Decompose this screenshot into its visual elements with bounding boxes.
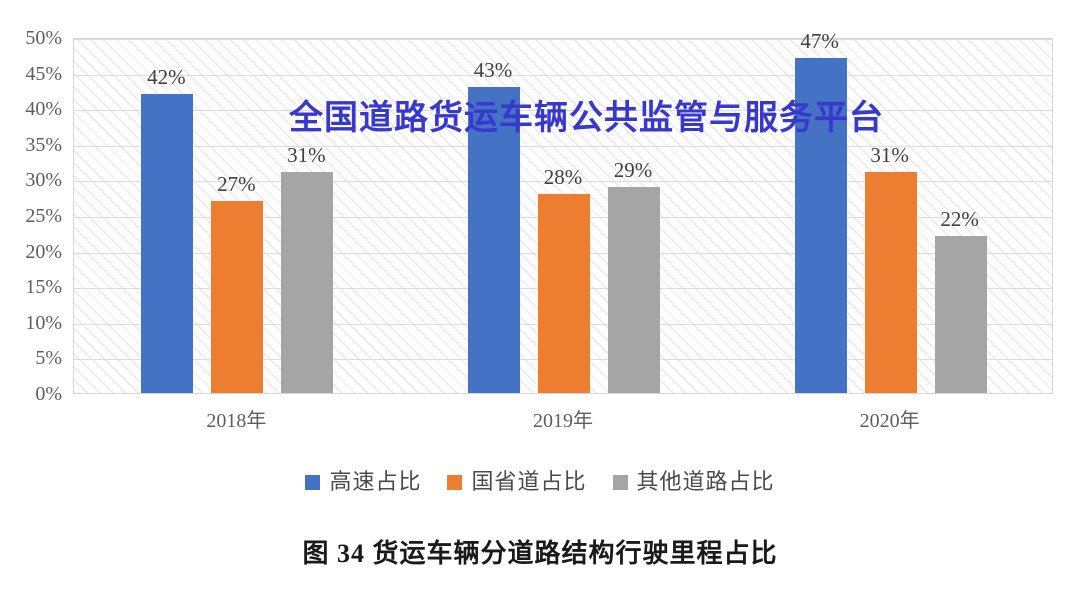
legend-item-高速占比[interactable]: 高速占比 (305, 470, 421, 494)
data-label: 31% (266, 145, 346, 166)
legend-item-国省道占比[interactable]: 国省道占比 (447, 470, 586, 494)
legend-label: 其他道路占比 (637, 470, 775, 494)
bar-2020-国省道占比[interactable] (865, 172, 917, 393)
legend-item-其他道路占比[interactable]: 其他道路占比 (613, 470, 775, 494)
data-label: 43% (453, 60, 533, 81)
y-axis-tick-40pct: 40% (6, 99, 62, 119)
data-label: 22% (920, 209, 1000, 230)
legend-swatch-icon (305, 475, 320, 490)
bar-2019-国省道占比[interactable] (538, 194, 590, 393)
x-axis-label-2019: 2019年 (483, 409, 643, 433)
bar-2019-高速占比[interactable] (468, 87, 520, 393)
figure-container: 50%45%40%35%30%25%20%15%10%5%0% 42%27%31… (0, 0, 1080, 596)
chart-legend: 高速占比国省道占比其他道路占比 (0, 470, 1080, 494)
x-axis-label-2018: 2018年 (156, 409, 316, 433)
y-axis-tick-25pct: 25% (6, 206, 62, 226)
data-label: 29% (593, 160, 673, 181)
y-axis-tick-30pct: 30% (6, 170, 62, 190)
y-axis-tick-10pct: 10% (6, 313, 62, 333)
bar-chart: 50%45%40%35%30%25%20%15%10%5%0% 42%27%31… (0, 0, 1080, 460)
data-label: 31% (850, 145, 930, 166)
bar-2018-国省道占比[interactable] (211, 201, 263, 393)
y-axis-tick-15pct: 15% (6, 277, 62, 297)
legend-label: 高速占比 (329, 470, 421, 494)
gridline (74, 110, 1052, 111)
bar-2020-高速占比[interactable] (795, 58, 847, 393)
y-axis-tick-45pct: 45% (6, 64, 62, 84)
bar-2018-高速占比[interactable] (141, 94, 193, 393)
legend-swatch-icon (447, 475, 462, 490)
figure-caption: 图 34 货运车辆分道路结构行驶里程占比 (0, 538, 1080, 570)
data-label: 42% (126, 67, 206, 88)
bar-2019-其他道路占比[interactable] (608, 187, 660, 393)
gridline (74, 75, 1052, 76)
bar-2020-其他道路占比[interactable] (935, 236, 987, 393)
legend-label: 国省道占比 (471, 470, 586, 494)
y-axis-tick-0pct: 0% (6, 384, 62, 404)
gridline (74, 39, 1052, 40)
bar-2018-其他道路占比[interactable] (281, 172, 333, 393)
data-label: 28% (523, 167, 603, 188)
y-axis-tick-20pct: 20% (6, 242, 62, 262)
y-axis-tick-35pct: 35% (6, 135, 62, 155)
y-axis-tick-50pct: 50% (6, 28, 62, 48)
plot-area (73, 38, 1053, 394)
data-label: 27% (196, 174, 276, 195)
data-label: 47% (780, 31, 860, 52)
legend-swatch-icon (613, 475, 628, 490)
x-axis-label-2020: 2020年 (810, 409, 970, 433)
y-axis-tick-5pct: 5% (6, 348, 62, 368)
